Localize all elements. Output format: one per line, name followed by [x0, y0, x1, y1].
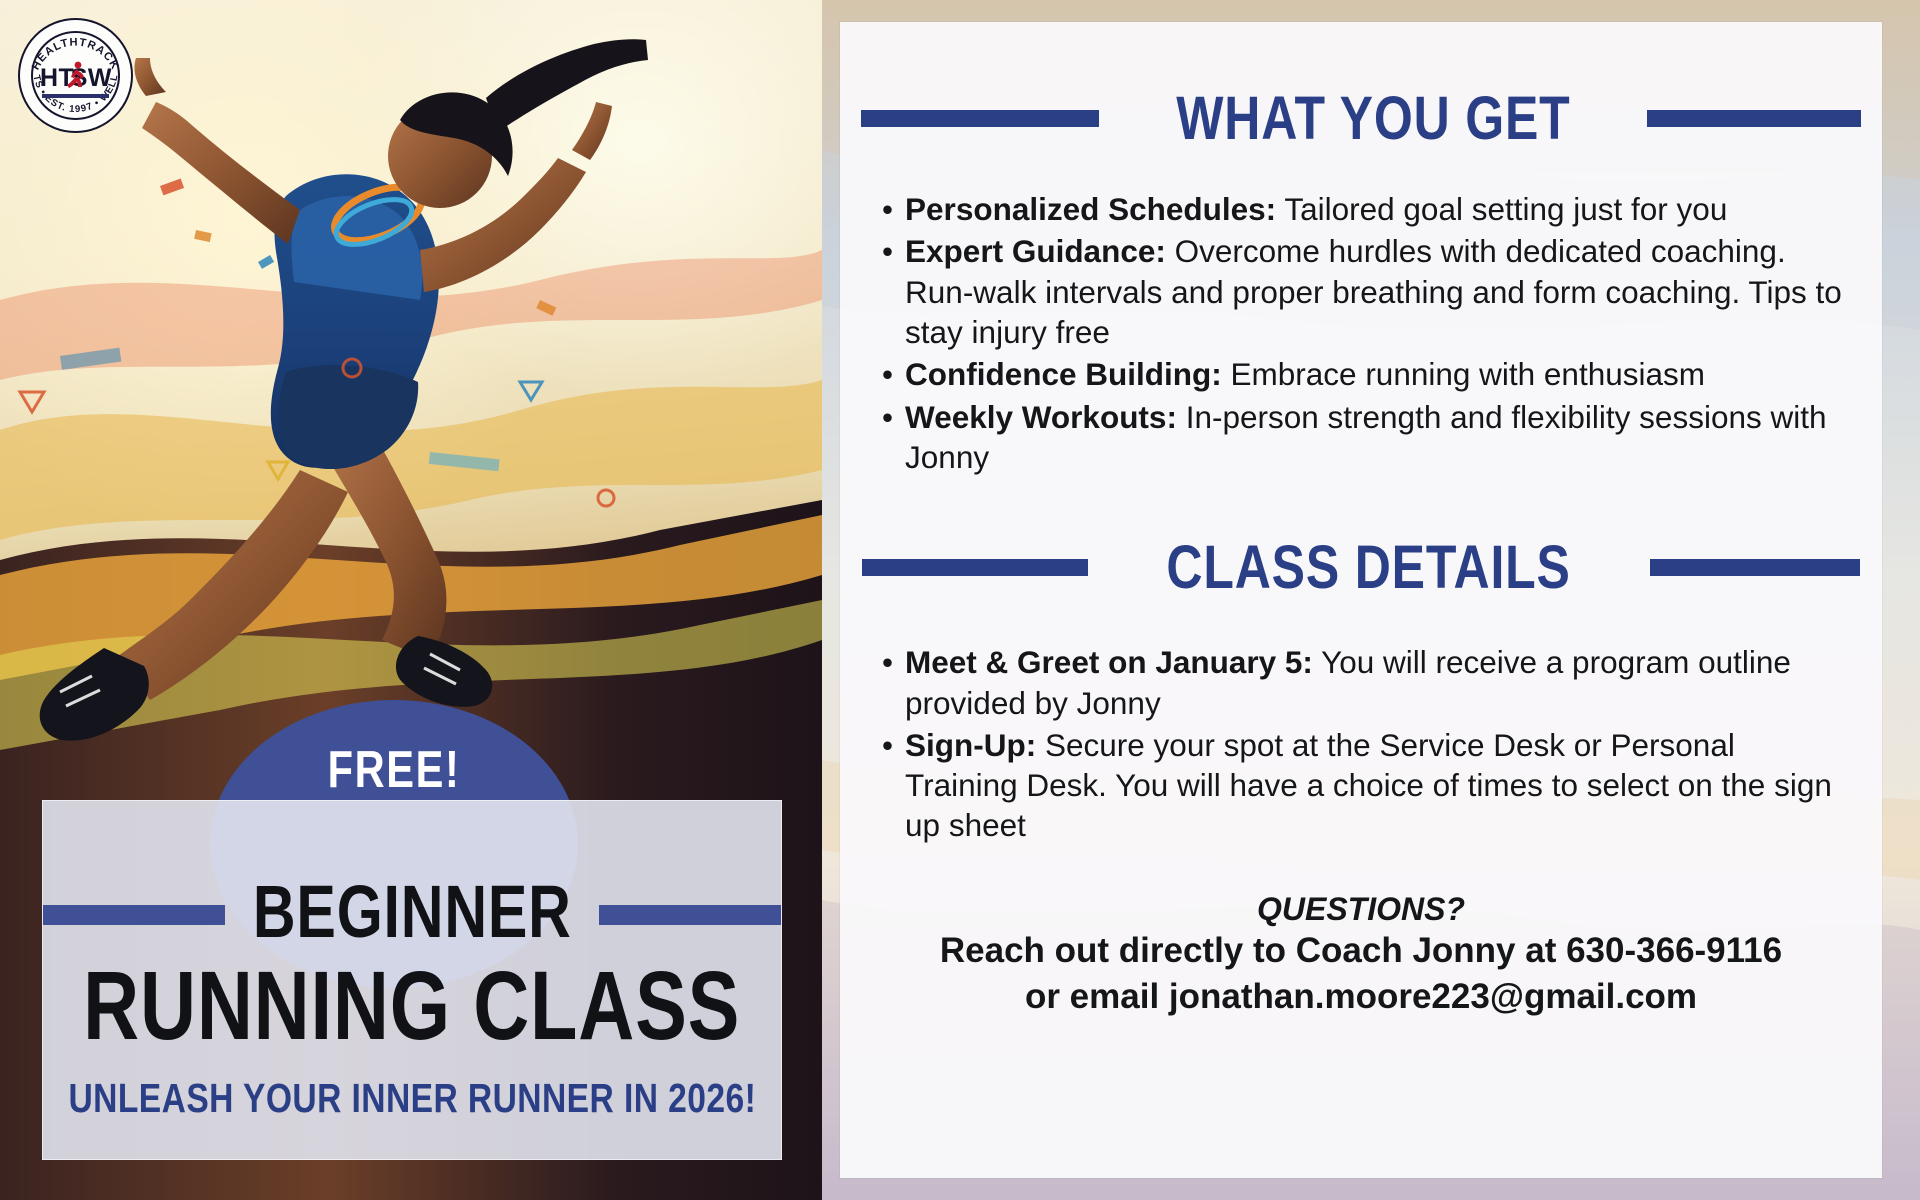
- running-figure-icon: [65, 61, 87, 91]
- bullet-lead: Weekly Workouts:: [905, 399, 1177, 435]
- logo-underline: [42, 94, 109, 98]
- list-item: • Confidence Building: Embrace running w…: [882, 354, 1852, 394]
- right-info-panel: WHAT YOU GET • Personalized Schedules: T…: [822, 0, 1920, 1200]
- section-title-class-details: CLASS DETAILS: [1167, 537, 1571, 598]
- section-rule-left: [862, 559, 1088, 576]
- questions-title: QUESTIONS?: [840, 890, 1882, 928]
- bullet-body: Weekly Workouts: In-person strength and …: [905, 397, 1852, 478]
- section-rule-right: [1650, 559, 1860, 576]
- class-details-list: • Meet & Greet on January 5: You will re…: [882, 642, 1882, 846]
- title-rule-right: [599, 905, 781, 925]
- bullet-dot-icon: •: [882, 189, 893, 229]
- section-rule-left: [861, 110, 1099, 127]
- list-item: • Weekly Workouts: In-person strength an…: [882, 397, 1852, 478]
- poster-tagline: UNLEASH YOUR INNER RUNNER IN 2026!: [68, 1078, 756, 1119]
- bullet-dot-icon: •: [882, 354, 893, 394]
- bullet-lead: Sign-Up:: [905, 727, 1036, 763]
- bullet-dot-icon: •: [882, 231, 893, 271]
- bullet-body: Confidence Building: Embrace running wit…: [905, 354, 1852, 394]
- bullet-lead: Personalized Schedules:: [905, 191, 1276, 227]
- section-header-class-details: CLASS DETAILS: [840, 537, 1882, 598]
- info-card: WHAT YOU GET • Personalized Schedules: T…: [840, 22, 1882, 1178]
- section-rule-right: [1647, 110, 1861, 127]
- poster-title-line2: RUNNING CLASS: [83, 957, 740, 1056]
- bullet-body: Meet & Greet on January 5: You will rece…: [905, 642, 1852, 723]
- bullet-body: Expert Guidance: Overcome hurdles with d…: [905, 231, 1852, 352]
- list-item: • Sign-Up: Secure your spot at the Servi…: [882, 725, 1852, 846]
- poster-title-card: BEGINNER RUNNING CLASS UNLEASH YOUR INNE…: [42, 800, 782, 1160]
- list-item: • Meet & Greet on January 5: You will re…: [882, 642, 1852, 723]
- questions-block: QUESTIONS? Reach out directly to Coach J…: [840, 890, 1882, 1021]
- questions-email-line: or email jonathan.moore223@gmail.com: [840, 974, 1882, 1020]
- list-item: • Expert Guidance: Overcome hurdles with…: [882, 231, 1852, 352]
- beginner-row: BEGINNER: [43, 873, 781, 951]
- bullet-lead: Meet & Greet on January 5:: [905, 644, 1313, 680]
- healthtrack-logo: HEALTHTRACK SPORTS • EST. 1997 • WELLNES…: [18, 18, 133, 133]
- bullet-text: Embrace running with enthusiasm: [1222, 356, 1705, 392]
- what-you-get-list: • Personalized Schedules: Tailored goal …: [882, 189, 1882, 477]
- left-hero-panel: HEALTHTRACK SPORTS • EST. 1997 • WELLNES…: [0, 0, 822, 1200]
- bullet-lead: Confidence Building:: [905, 356, 1222, 392]
- title-rule-left: [43, 905, 225, 925]
- section-header-what-you-get: WHAT YOU GET: [840, 88, 1882, 149]
- bullet-dot-icon: •: [882, 642, 893, 682]
- list-item: • Personalized Schedules: Tailored goal …: [882, 189, 1852, 229]
- bullet-dot-icon: •: [882, 397, 893, 437]
- poster-root: HEALTHTRACK SPORTS • EST. 1997 • WELLNES…: [0, 0, 1920, 1200]
- questions-phone-line: Reach out directly to Coach Jonny at 630…: [840, 928, 1882, 974]
- section-title-what-you-get: WHAT YOU GET: [1176, 88, 1570, 149]
- logo-runner-icon: [65, 61, 87, 96]
- free-badge-label: FREE!: [328, 744, 461, 796]
- bullet-dot-icon: •: [882, 725, 893, 765]
- bullet-lead: Expert Guidance:: [905, 233, 1166, 269]
- bullet-body: Sign-Up: Secure your spot at the Service…: [905, 725, 1852, 846]
- bullet-text: Secure your spot at the Service Desk or …: [905, 727, 1832, 844]
- poster-title-line1: BEGINNER: [253, 875, 572, 949]
- bullet-body: Personalized Schedules: Tailored goal se…: [905, 189, 1852, 229]
- bullet-text: Tailored goal setting just for you: [1276, 191, 1727, 227]
